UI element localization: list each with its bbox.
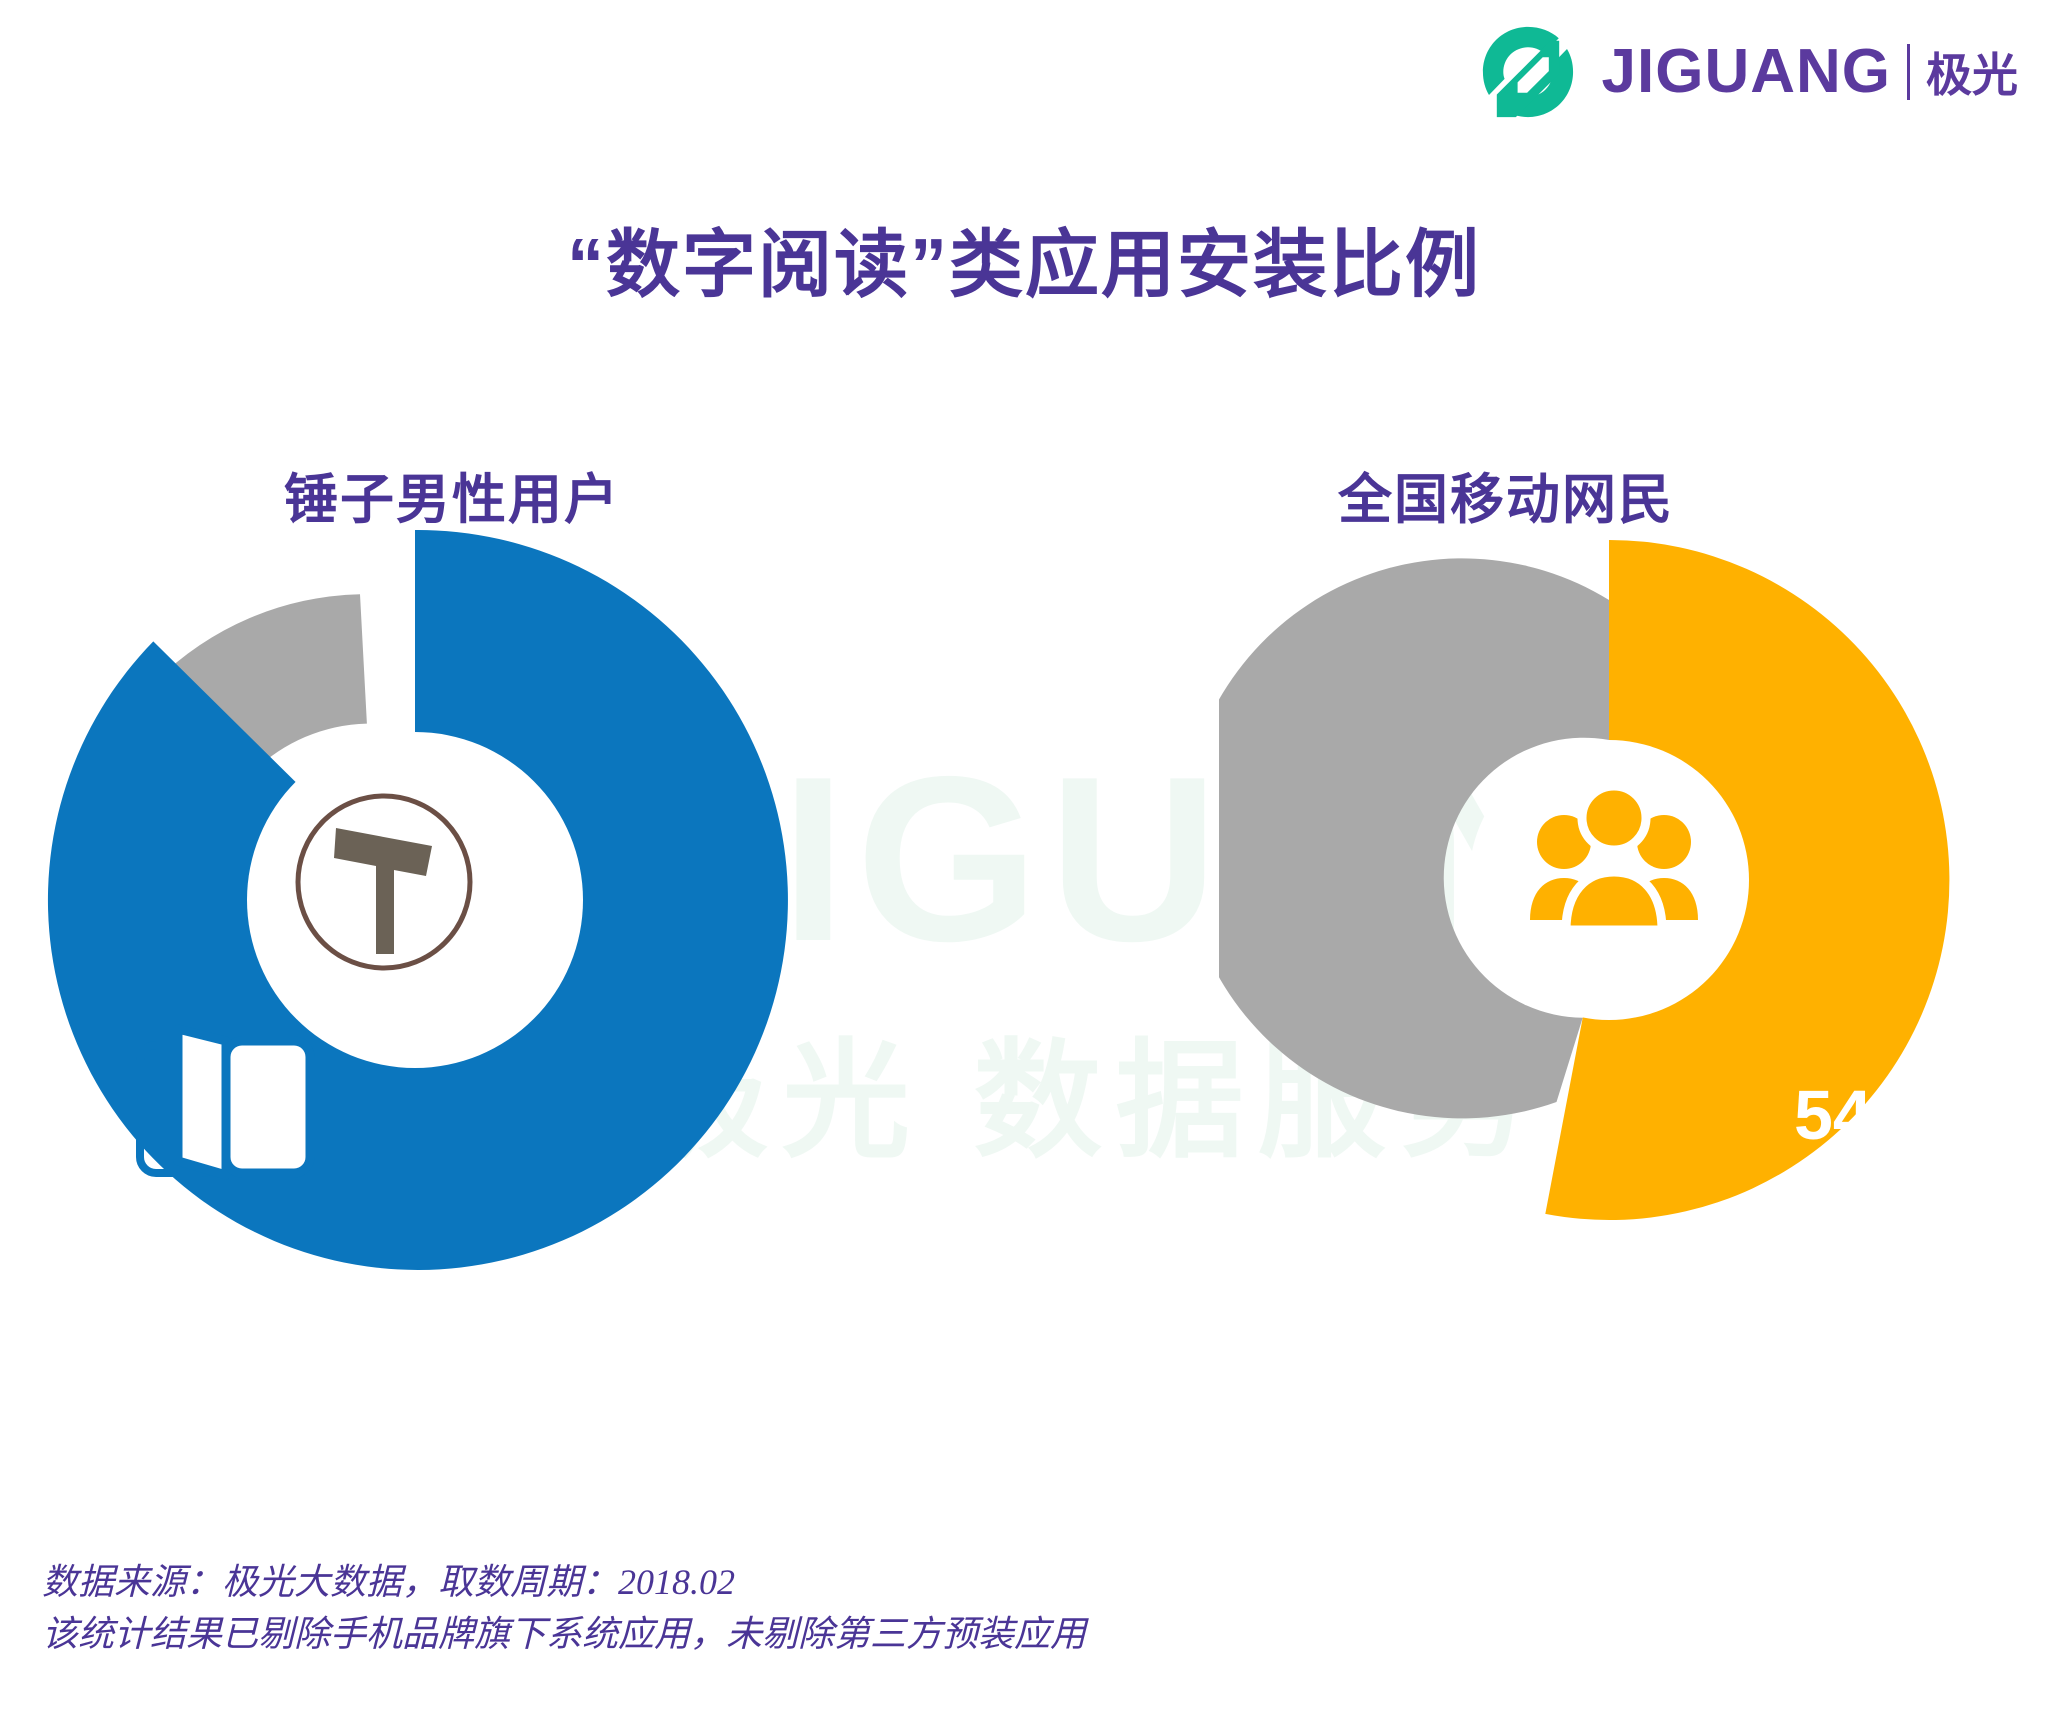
panel-national-mobile-netizens: 全国移动网民 [1024, 440, 2048, 1520]
smartisan-hammer-icon [284, 782, 484, 982]
jiguang-logo-icon [1476, 20, 1580, 124]
page-title: “数字阅读”类应用安装比例 [0, 205, 2048, 312]
footer-line-1: 数据来源：极光大数据，取数周期：2018.02 [42, 1556, 1086, 1608]
brand-bar: JIGUANG 极光 [1476, 20, 2018, 124]
brand-wordmark: JIGUANG [1602, 41, 1891, 103]
brand-divider [1907, 44, 1910, 100]
value-label-left-display: 82.0% [490, 1255, 700, 1340]
footer-line-2: 该统计结果已剔除手机品牌旗下系统应用，未剔除第三方预装应用 [42, 1608, 1086, 1660]
value-label-right-display: 54.0% [1794, 1075, 1992, 1155]
infographic-page: JIGUANG 极光 数据服务 JIGUANG 极光 “数字阅读”类应用安装比例… [0, 0, 2048, 1712]
footer-note: 数据来源：极光大数据，取数周期：2018.02 该统计结果已剔除手机品牌旗下系统… [42, 1556, 1086, 1660]
brand-cn-name: 极光 [1926, 39, 2018, 105]
open-book-icon [130, 1015, 320, 1185]
users-group-icon [1524, 780, 1704, 940]
brand-text: JIGUANG 极光 [1602, 39, 2018, 105]
panel-smartisan-male-users: 锤子男性用户 82.0% [0, 440, 1024, 1520]
